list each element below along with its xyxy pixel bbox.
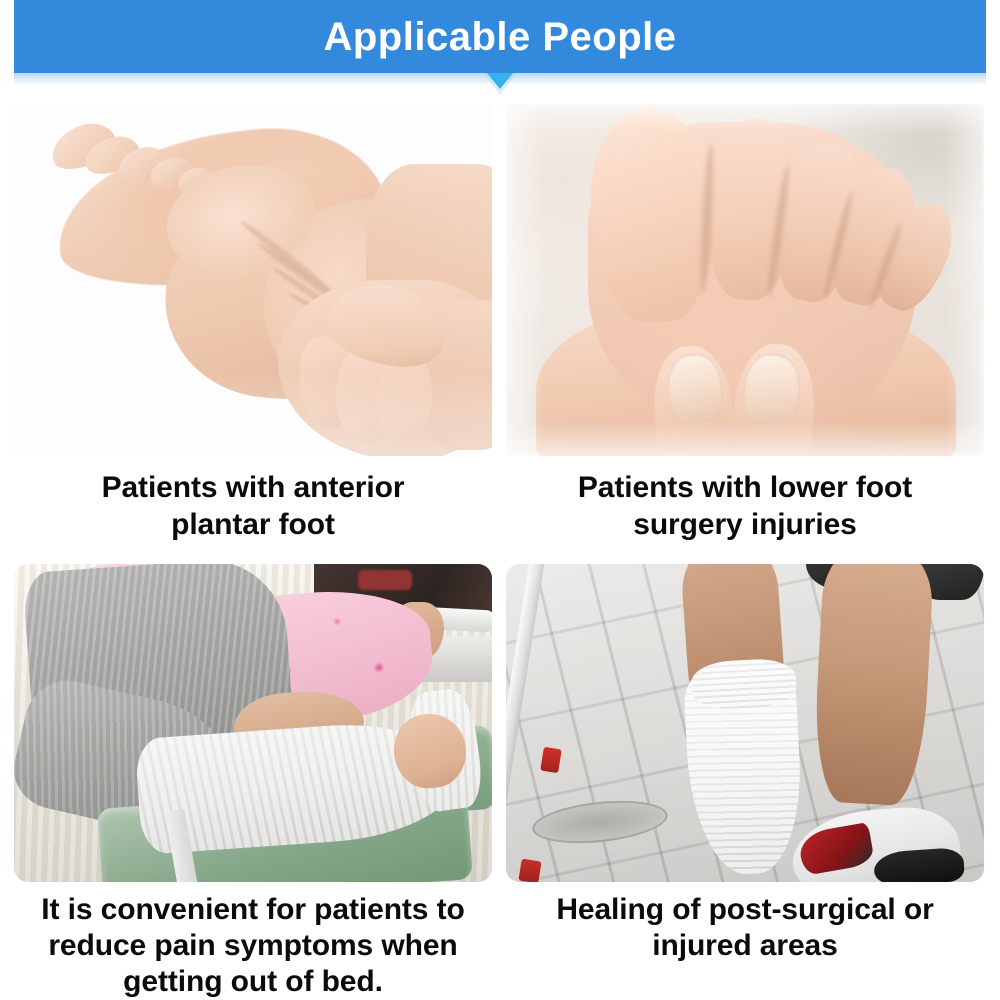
photo-casted-leg-on-splint	[14, 564, 492, 882]
caption-line: plantar foot	[16, 507, 490, 544]
page-header: Applicable People	[0, 0, 1000, 92]
page-title: Applicable People	[323, 17, 676, 57]
card-post-surgical-injured-healing: Healing of post-surgical or injured area…	[506, 564, 984, 1000]
caption-line: Healing of post-surgical or	[508, 892, 982, 928]
card-reduce-pain-getting-out-of-bed: It is convenient for patients to reduce …	[14, 564, 492, 1000]
card-anterior-plantar-foot: Patients with anterior plantar foot	[14, 104, 492, 564]
caption-reduce-pain-getting-out-of-bed: It is convenient for patients to reduce …	[14, 882, 492, 1000]
photo-lower-foot-surgery-injuries	[506, 104, 984, 456]
caption-line: surgery injuries	[508, 507, 982, 544]
photo-anterior-plantar-foot	[14, 104, 492, 456]
caption-anterior-plantar-foot: Patients with anterior plantar foot	[14, 456, 492, 544]
caption-line: reduce pain symptoms when	[16, 928, 490, 964]
chevron-down-icon	[487, 73, 513, 89]
card-lower-foot-surgery-injuries: Patients with lower foot surgery injurie…	[506, 104, 984, 564]
caption-line: injured areas	[508, 928, 982, 964]
header-banner: Applicable People	[14, 0, 986, 73]
applicable-people-grid: Patients with anterior plantar foot	[0, 92, 1000, 1000]
caption-line: It is convenient for patients to	[16, 892, 490, 928]
caption-lower-foot-surgery-injuries: Patients with lower foot surgery injurie…	[506, 456, 984, 544]
caption-line: Patients with lower foot	[508, 470, 982, 507]
photo-walking-with-crutch	[506, 564, 984, 882]
caption-line: getting out of bed.	[16, 964, 490, 1000]
caption-post-surgical-injured-healing: Healing of post-surgical or injured area…	[506, 882, 984, 964]
caption-line: Patients with anterior	[16, 470, 490, 507]
page-root: Applicable People	[0, 0, 1000, 1000]
